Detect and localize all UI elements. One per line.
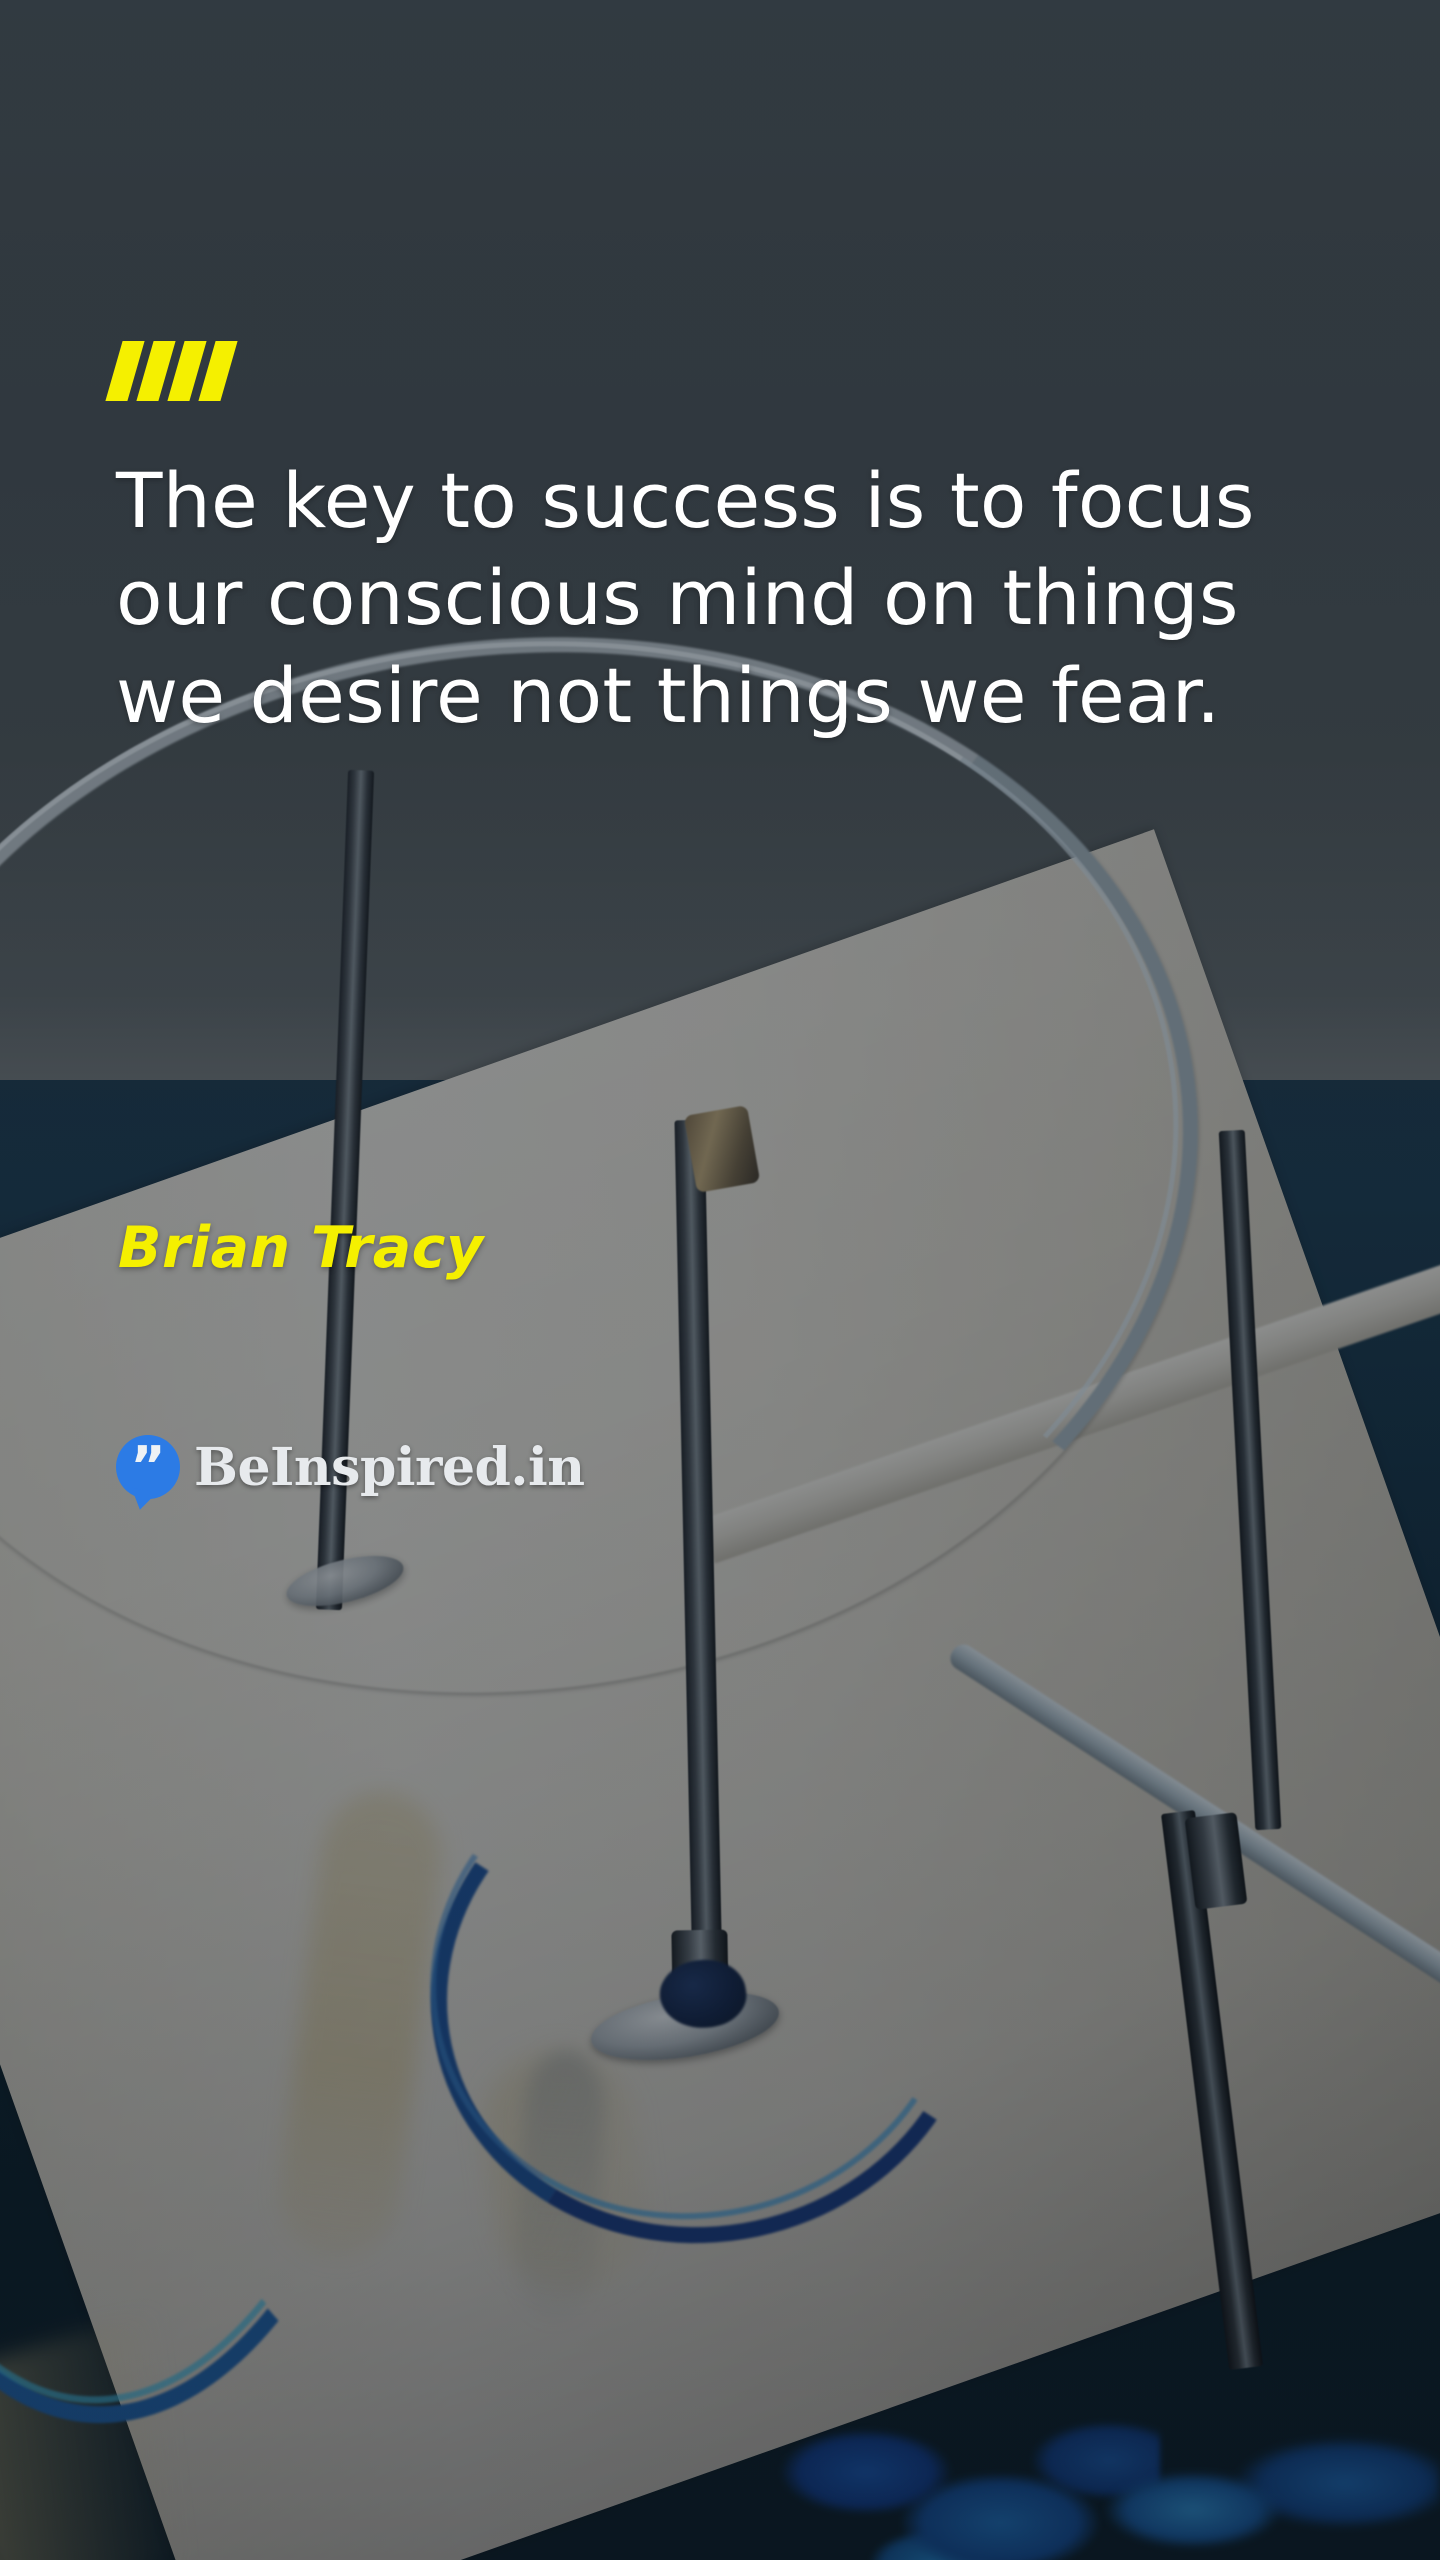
poster-content: The key to success is to focus our consc… xyxy=(0,0,1440,2560)
quote-author: Brian Tracy xyxy=(118,1215,484,1281)
brand-name: BeInspired.in xyxy=(194,1437,585,1498)
speech-bubble-quote-icon: ” xyxy=(116,1435,180,1499)
quote-bar xyxy=(198,341,237,401)
brand-watermark[interactable]: ” BeInspired.in xyxy=(116,1435,585,1499)
quote-text: The key to success is to focus our consc… xyxy=(116,452,1298,744)
quote-poster: The key to success is to focus our consc… xyxy=(0,0,1440,2560)
quotation-bars-icon xyxy=(114,341,229,401)
